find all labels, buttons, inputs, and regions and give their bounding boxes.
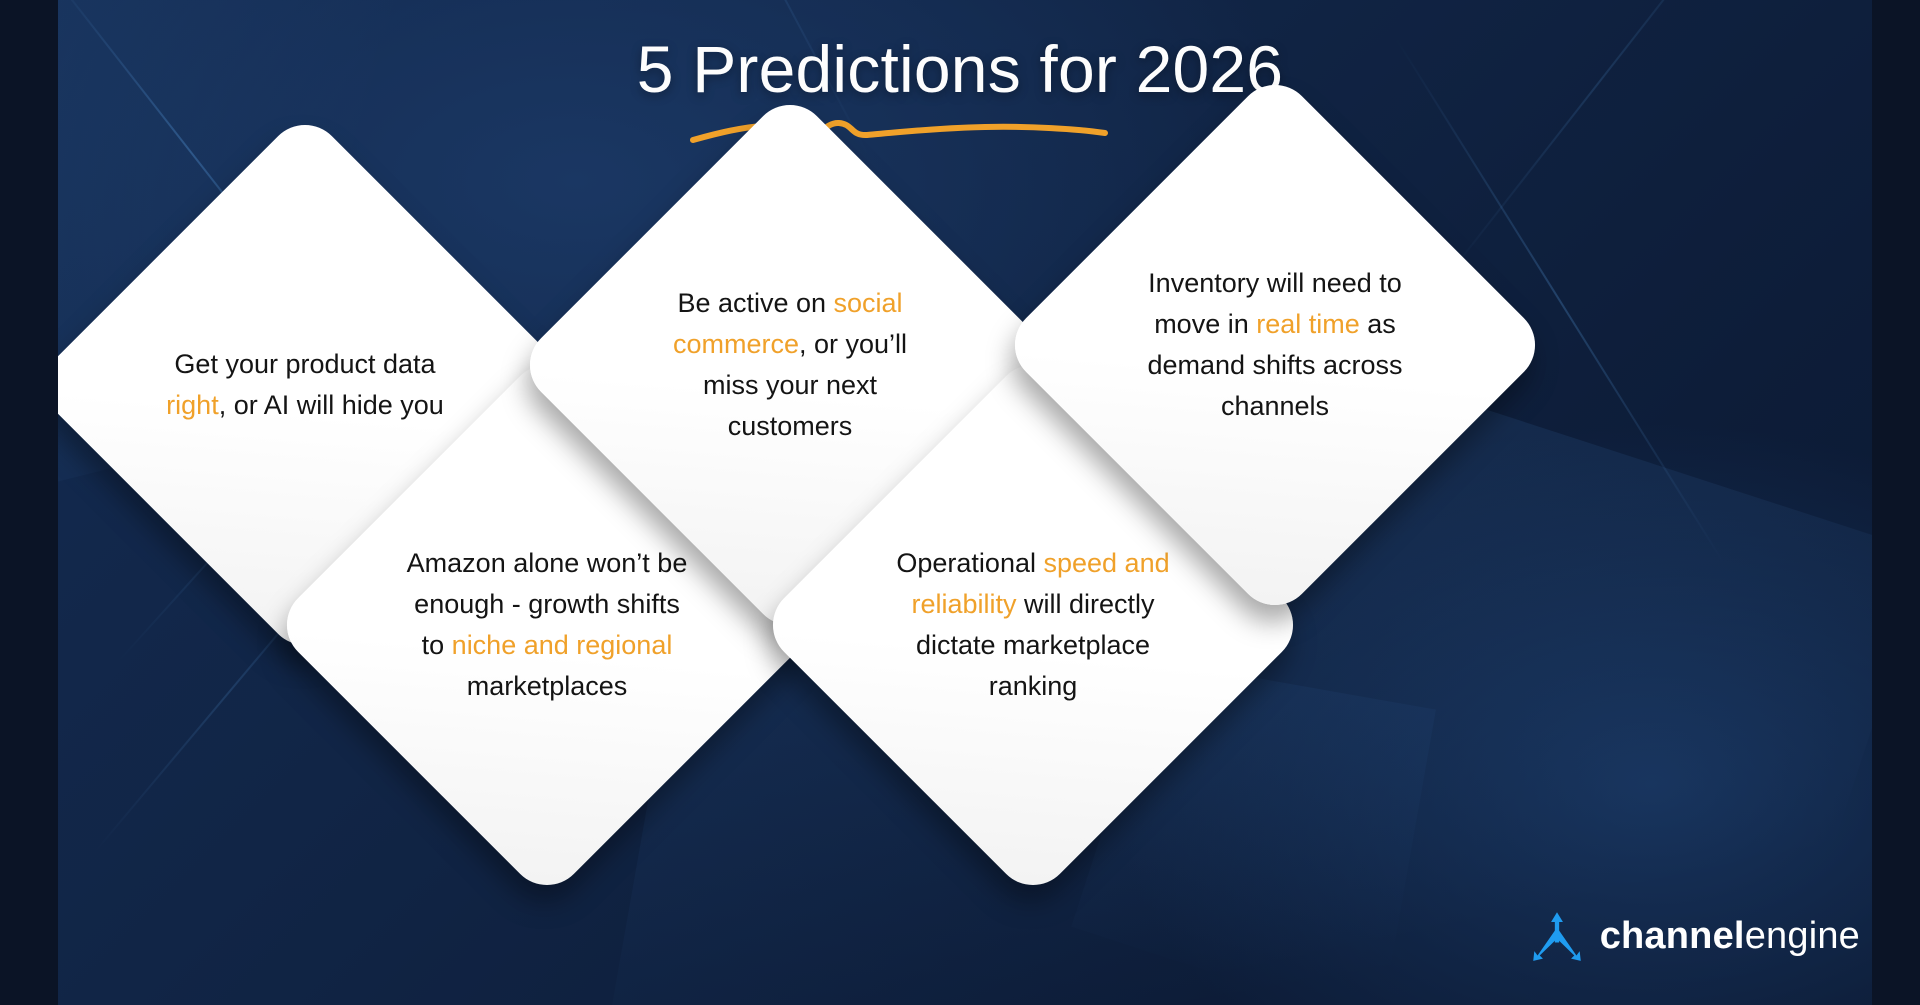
logo-wordmark: channelengine	[1600, 915, 1860, 958]
right-letterbox-bar	[1872, 0, 1920, 1005]
prediction-2-highlight: niche and regional	[452, 630, 673, 660]
prediction-text-2: Amazon alone won’t be enough - growth sh…	[403, 543, 692, 707]
logo-name-bold: channel	[1600, 915, 1745, 957]
slide-canvas: 5 Predictions for 2026 Get your product …	[0, 0, 1920, 1005]
prediction-text-3: Be active on social commerce, or you’ll …	[646, 283, 935, 447]
prediction-text-5: Inventory will need to move in real time…	[1131, 263, 1420, 427]
left-letterbox-bar	[0, 0, 58, 1005]
prediction-1-seg-2: , or AI will hide you	[219, 390, 444, 420]
prediction-card-5[interactable]: Inventory will need to move in real time…	[1080, 150, 1470, 540]
prediction-2-seg-2: marketplaces	[467, 671, 628, 701]
channelengine-tri-arrow-icon	[1530, 909, 1584, 963]
slide-title-block: 5 Predictions for 2026	[0, 36, 1920, 102]
prediction-5-highlight: real time	[1256, 309, 1360, 339]
prediction-3-seg-0: Be active on	[677, 288, 833, 318]
prediction-1-highlight: right	[166, 390, 219, 420]
prediction-1-seg-0: Get your product data	[174, 349, 435, 379]
prediction-text-4: Operational speed and reliability will d…	[889, 543, 1178, 707]
channelengine-logo: channelengine	[1530, 909, 1860, 963]
logo-name-light: engine	[1745, 915, 1860, 957]
prediction-4-seg-0: Operational	[896, 548, 1043, 578]
page-title: 5 Predictions for 2026	[0, 36, 1920, 102]
prediction-text-1: Get your product data right, or AI will …	[161, 344, 450, 426]
